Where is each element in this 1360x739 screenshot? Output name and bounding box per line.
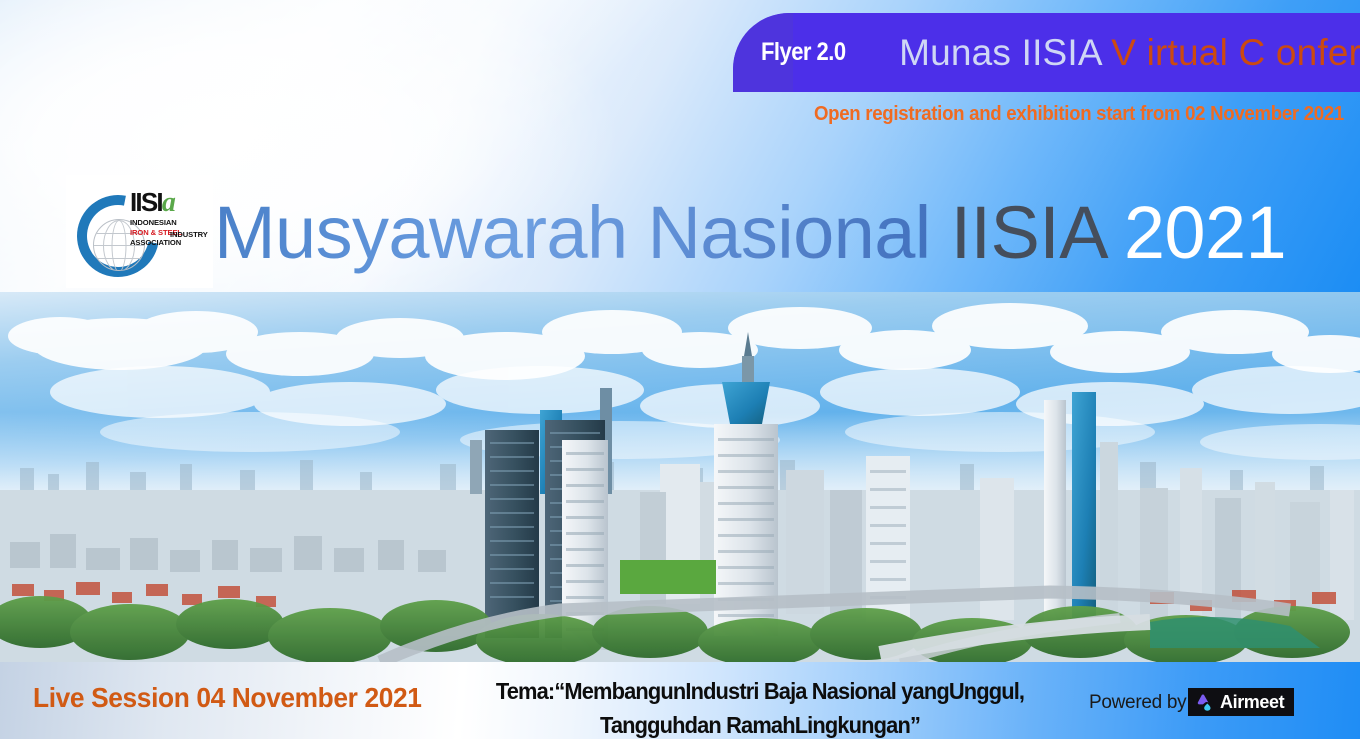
- logo-industry-label: INDUSTRY: [170, 230, 208, 239]
- powered-by-label: Powered by: [1089, 692, 1186, 714]
- event-theme: Tema:“MembangunIndustri Baja Nasional ya…: [447, 674, 1074, 739]
- airmeet-droplet-icon: [1195, 693, 1214, 712]
- logo-wordmark-text: IISI: [130, 187, 162, 217]
- headline-musyawarah: Musyawarah Nasional: [214, 191, 951, 274]
- airmeet-brand: Airmeet: [1188, 688, 1294, 716]
- flyer-root: Flyer 2.0 Munas IISIA V irtual C onferen…: [0, 0, 1360, 739]
- page-title: Musyawarah Nasional IISIA 2021 Musyawara…: [214, 190, 1360, 292]
- logo-sub-line3: ASSOCIATION: [130, 238, 212, 248]
- flyer-version-badge: Flyer 2.0: [761, 38, 846, 67]
- registration-note: Open registration and exhibition start f…: [94, 103, 1344, 126]
- headline-text: Musyawarah Nasional IISIA 2021: [214, 190, 1286, 276]
- iisia-logo: IISIa INDONESIAN IRON & STEEL ASSOCIATIO…: [66, 175, 213, 288]
- banner-title-accent: V irtual C onference: [1111, 32, 1360, 73]
- live-session-label: Live Session 04 November 2021: [33, 682, 421, 714]
- city-skyline-illustration: [0, 292, 1360, 662]
- event-theme-line-1: Tema:“MembangunIndustri Baja Nasional ya…: [447, 674, 1074, 708]
- airmeet-wordmark: Airmeet: [1220, 693, 1284, 711]
- event-theme-line-2: Tangguhdan RamahLingkungan”: [447, 708, 1074, 739]
- banner-title: Munas IISIA V irtual C onference: [899, 32, 1360, 74]
- logo-sub-line1: INDONESIAN: [130, 218, 212, 228]
- flyer-banner: Flyer 2.0 Munas IISIA V irtual C onferen…: [733, 13, 1360, 92]
- headline-iisia: IISIA: [951, 191, 1124, 274]
- hero-city-image: [0, 292, 1360, 662]
- headline-year: 2021: [1124, 191, 1286, 274]
- banner-title-primary: Munas IISIA: [899, 32, 1111, 73]
- logo-wordmark-accent: a: [162, 187, 176, 218]
- logo-wordmark: IISIa: [130, 187, 176, 219]
